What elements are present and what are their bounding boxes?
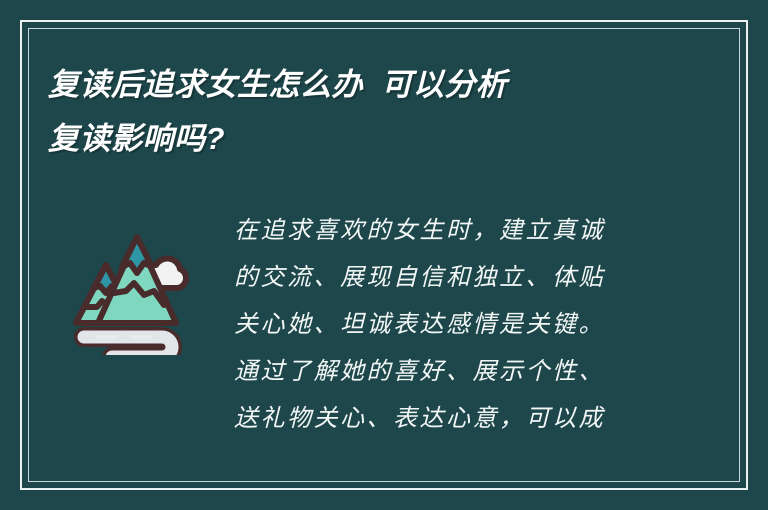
mountain-road-icon [64,205,204,355]
promo-card: 复读后追求女生怎么办 可以分析 复读影响吗? [0,0,768,510]
body-text: 在追求喜欢的女生时，建立真诚 的交流、展现自信和独立、体贴 关心她、坦诚表达感情… [234,207,654,442]
page-title: 复读后追求女生怎么办 可以分析 复读影响吗? [48,58,688,166]
